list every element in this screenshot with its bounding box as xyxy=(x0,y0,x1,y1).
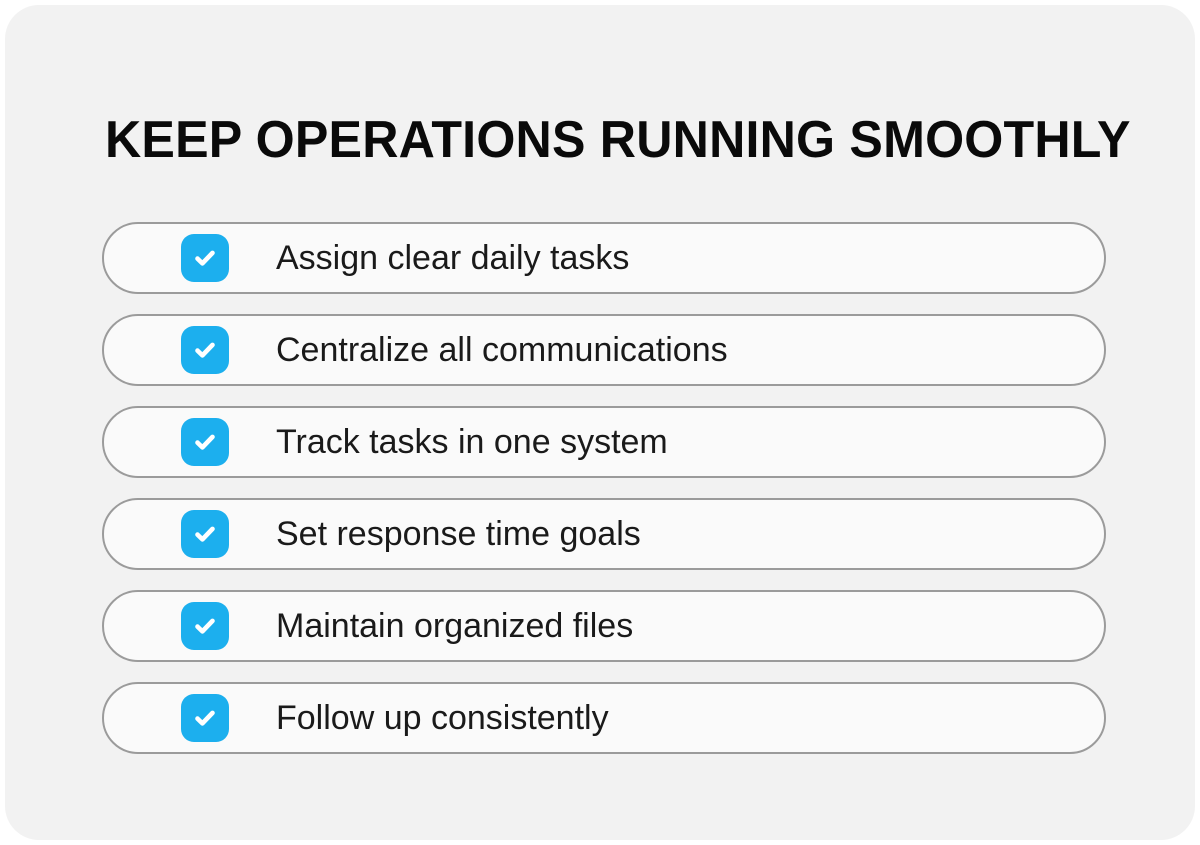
list-item-label: Track tasks in one system xyxy=(276,420,668,464)
list-item[interactable]: Maintain organized files xyxy=(102,590,1106,662)
list-item[interactable]: Track tasks in one system xyxy=(102,406,1106,478)
checklist-card: KEEP OPERATIONS RUNNING SMOOTHLY Assign … xyxy=(5,5,1195,840)
checkmark-icon[interactable] xyxy=(181,234,229,282)
list-item[interactable]: Assign clear daily tasks xyxy=(102,222,1106,294)
checkmark-icon[interactable] xyxy=(181,694,229,742)
page-title: KEEP OPERATIONS RUNNING SMOOTHLY xyxy=(105,105,1070,175)
list-item-label: Follow up consistently xyxy=(276,696,609,740)
checklist: Assign clear daily tasks Centralize all … xyxy=(102,222,1106,754)
checkmark-icon[interactable] xyxy=(181,418,229,466)
list-item[interactable]: Centralize all communications xyxy=(102,314,1106,386)
list-item-label: Centralize all communications xyxy=(276,328,728,372)
page-canvas: KEEP OPERATIONS RUNNING SMOOTHLY Assign … xyxy=(0,0,1200,845)
checkmark-icon[interactable] xyxy=(181,510,229,558)
list-item-label: Maintain organized files xyxy=(276,604,633,648)
list-item-label: Set response time goals xyxy=(276,512,641,556)
list-item[interactable]: Follow up consistently xyxy=(102,682,1106,754)
checkmark-icon[interactable] xyxy=(181,326,229,374)
checkmark-icon[interactable] xyxy=(181,602,229,650)
list-item[interactable]: Set response time goals xyxy=(102,498,1106,570)
list-item-label: Assign clear daily tasks xyxy=(276,236,629,280)
